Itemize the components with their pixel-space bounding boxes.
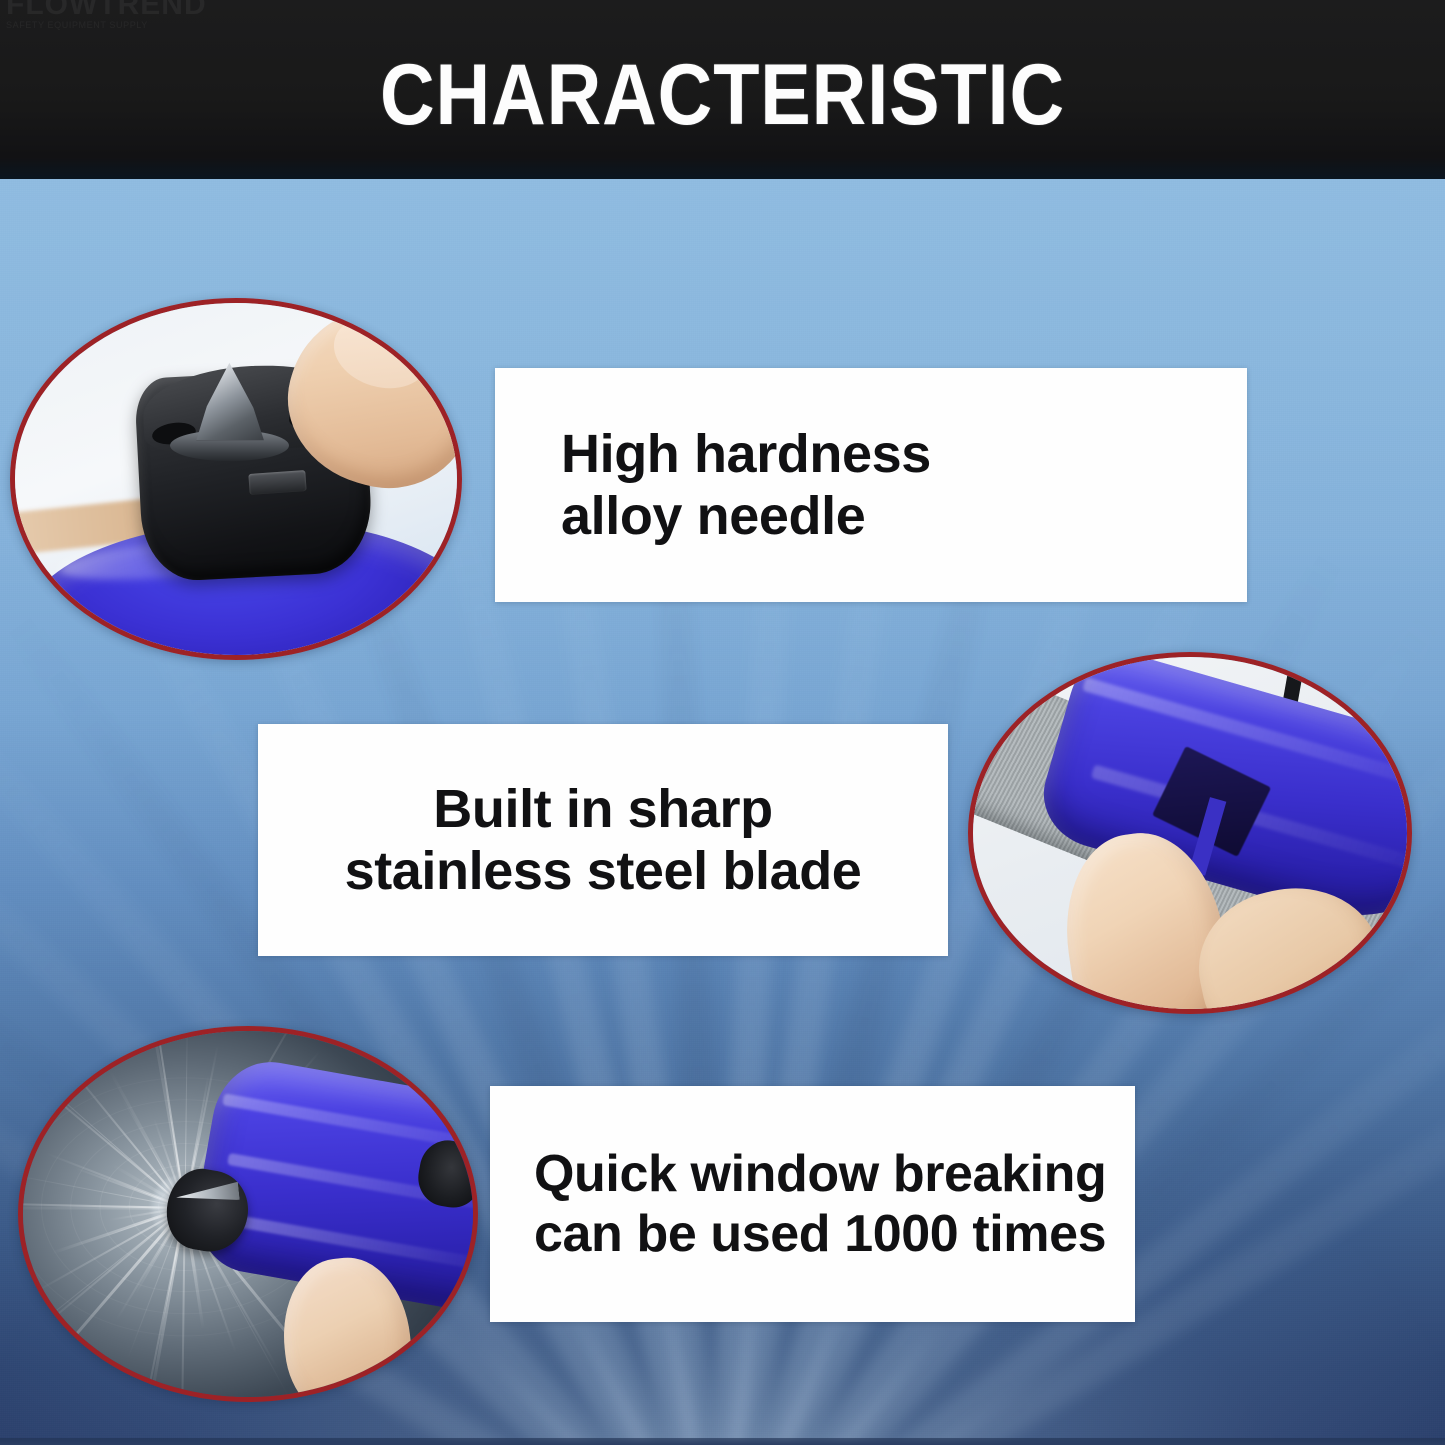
- feature-1-panel: High hardness alloy needle: [495, 368, 1247, 602]
- feature-1-label: High hardness alloy needle: [495, 423, 1247, 547]
- watermark-subtext: SAFETY EQUIPMENT SUPPLY: [6, 20, 207, 30]
- brand-watermark: FLOWTREND SAFETY EQUIPMENT SUPPLY: [6, 0, 207, 30]
- photo1-cap-slot: [249, 470, 308, 495]
- feature-3-panel: Quick window breaking can be used 1000 t…: [490, 1086, 1135, 1322]
- watermark-text: FLOWTREND: [6, 0, 207, 21]
- feature-2-label: Built in sharp stainless steel blade: [258, 778, 948, 902]
- window-breaker-photo-content: [23, 1031, 473, 1397]
- page-title: CHARACTERISTIC: [87, 50, 1359, 140]
- seatbelt-cutter-photo: [968, 652, 1412, 1014]
- seatbelt-cutter-photo-content: [973, 657, 1407, 1009]
- alloy-needle-photo-content: [15, 303, 457, 655]
- alloy-needle-photo: [10, 298, 462, 660]
- window-breaker-photo: [18, 1026, 478, 1402]
- background-bottom-edge: [0, 1438, 1445, 1445]
- infographic-canvas: FLOWTREND SAFETY EQUIPMENT SUPPLY CHARAC…: [0, 0, 1445, 1445]
- header-band: FLOWTREND SAFETY EQUIPMENT SUPPLY CHARAC…: [0, 0, 1445, 179]
- feature-2-panel: Built in sharp stainless steel blade: [258, 724, 948, 956]
- feature-3-label: Quick window breaking can be used 1000 t…: [490, 1144, 1135, 1264]
